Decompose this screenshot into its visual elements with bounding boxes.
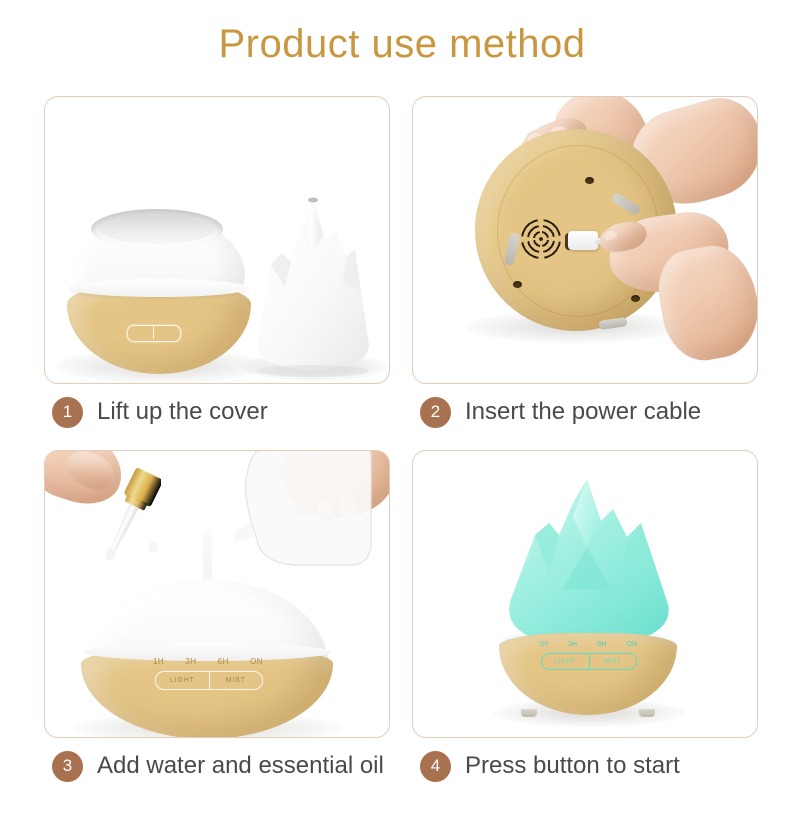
- step-badge-4: 4: [420, 751, 451, 782]
- page-title: Product use method: [0, 22, 804, 67]
- device-foot: [521, 709, 537, 717]
- product-illustration-3: 1H 3H 6H ON LIGHT MIST: [45, 451, 389, 737]
- step-card-4: 1H 3H 6H ON LIGHT MIST 4 Press button to…: [412, 450, 760, 794]
- step-caption-4: 4 Press button to start: [412, 738, 760, 794]
- step-label-1: Lift up the cover: [97, 398, 268, 426]
- product-illustration-1: [45, 97, 389, 383]
- device-button-row: LIGHT MIST: [541, 653, 637, 670]
- screw-hole: [631, 295, 640, 302]
- step-card-2: 2 Insert the power cable: [412, 96, 760, 440]
- step-image-panel-4: 1H 3H 6H ON LIGHT MIST: [412, 450, 758, 738]
- step-badge-2: 2: [420, 397, 451, 428]
- step-card-1: 1 Lift up the cover: [44, 96, 392, 440]
- device-foot: [639, 709, 655, 717]
- step-image-panel-1: [44, 96, 390, 384]
- timer-label-row: 1H 3H 6H ON: [539, 641, 637, 648]
- steps-grid: 1 Lift up the cover: [44, 96, 760, 794]
- mist-button[interactable]: MIST: [209, 672, 263, 689]
- step-badge-3: 3: [52, 751, 83, 782]
- screw-hole: [513, 281, 522, 288]
- step-caption-1: 1 Lift up the cover: [44, 384, 392, 440]
- timer-label-3h: 3H: [568, 641, 577, 648]
- step-label-3: Add water and essential oil: [97, 752, 384, 780]
- step-card-3: 1H 3H 6H ON LIGHT MIST 3 Add water and e…: [44, 450, 392, 794]
- light-button[interactable]: LIGHT: [156, 672, 209, 689]
- diffuser-rim-inner: [99, 214, 215, 244]
- diffuser-seam: [69, 279, 249, 297]
- power-plug: [568, 231, 598, 250]
- mountain-cover-icon: [251, 195, 375, 377]
- timer-label-on: ON: [250, 657, 263, 666]
- screw-hole: [585, 177, 594, 184]
- timer-label-1h: 1H: [153, 657, 164, 666]
- right-hand-palm: [652, 240, 758, 367]
- step-caption-3: 3 Add water and essential oil: [44, 738, 392, 794]
- oil-droplet: [149, 541, 158, 553]
- device-button-row: LIGHT MIST: [155, 671, 263, 690]
- light-button[interactable]: LIGHT: [542, 654, 589, 669]
- product-illustration-4: 1H 3H 6H ON LIGHT MIST: [413, 451, 757, 737]
- step-image-panel-2: [412, 96, 758, 384]
- dropper-icon: [97, 467, 161, 571]
- fan-grille-spokes: [519, 217, 563, 261]
- step-label-2: Insert the power cable: [465, 398, 701, 426]
- timer-label-6h: 6H: [597, 641, 606, 648]
- timer-label-row: 1H 3H 6H ON: [153, 657, 263, 666]
- step-caption-2: 2 Insert the power cable: [412, 384, 760, 440]
- mist-button[interactable]: MIST: [589, 654, 637, 669]
- infographic-page: Product use method: [0, 0, 804, 823]
- timer-label-1h: 1H: [539, 641, 548, 648]
- measuring-cup-icon: [223, 450, 379, 577]
- step-image-panel-3: 1H 3H 6H ON LIGHT MIST: [44, 450, 390, 738]
- control-button-divider: [153, 326, 154, 339]
- step-label-4: Press button to start: [465, 752, 680, 780]
- timer-label-6h: 6H: [218, 657, 229, 666]
- mountain-cover-glowing-icon: [495, 473, 681, 651]
- timer-label-on: ON: [626, 641, 637, 648]
- timer-label-3h: 3H: [185, 657, 196, 666]
- step-badge-1: 1: [52, 397, 83, 428]
- product-illustration-2: [413, 97, 757, 383]
